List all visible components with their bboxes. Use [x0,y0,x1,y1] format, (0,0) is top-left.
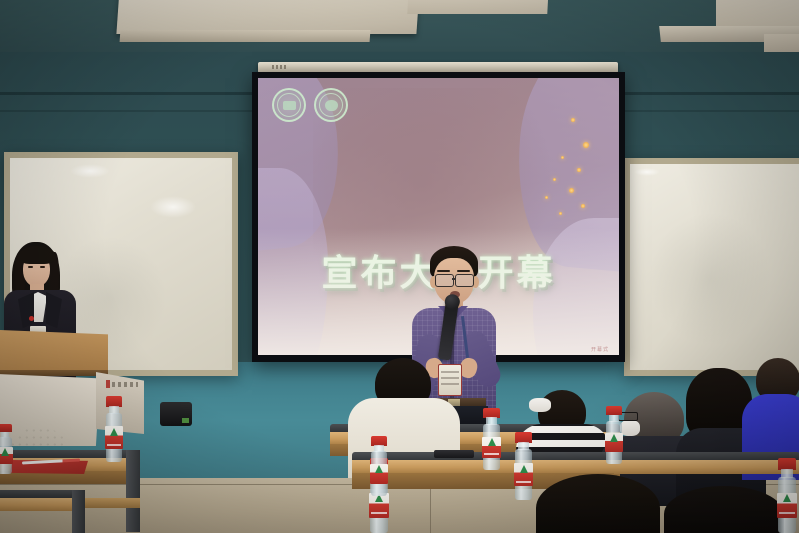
wooden-lectern [0,330,108,445]
lectern-control-console [0,374,100,446]
bottled-water[interactable] [778,458,796,533]
photo-scene: 宣布大赛开幕 开幕式 [0,0,799,533]
bottled-water[interactable] [483,408,500,470]
speaker-id-badge [438,364,462,396]
host-lapel-pin-icon [29,316,34,321]
bottled-water[interactable] [515,432,532,500]
lectern-power-button[interactable] [106,380,110,388]
ceiling-panel-center [407,0,548,14]
institution-emblem-right-icon [314,88,348,122]
ceiling-panel-left-edge [120,30,371,42]
bottled-water[interactable] [606,406,622,464]
floor-seam-2 [430,484,431,533]
speaker-eyeglasses-icon [435,274,454,287]
lectern-controls[interactable] [112,382,138,387]
slide-emblems [272,88,348,122]
wall-mounted-device [160,402,192,426]
bottled-water[interactable] [371,436,387,496]
bottled-water[interactable] [0,424,12,474]
slide-footer-text: 开幕式 [591,346,609,353]
institution-emblem-left-icon [272,88,306,122]
roller-vent-icon [272,65,288,69]
bottled-water[interactable] [106,396,122,462]
whiteboard-right [624,158,799,376]
smartphone-on-desk[interactable] [434,450,474,458]
ceiling-panel-left [116,0,419,34]
slide-sparkles [515,116,595,226]
